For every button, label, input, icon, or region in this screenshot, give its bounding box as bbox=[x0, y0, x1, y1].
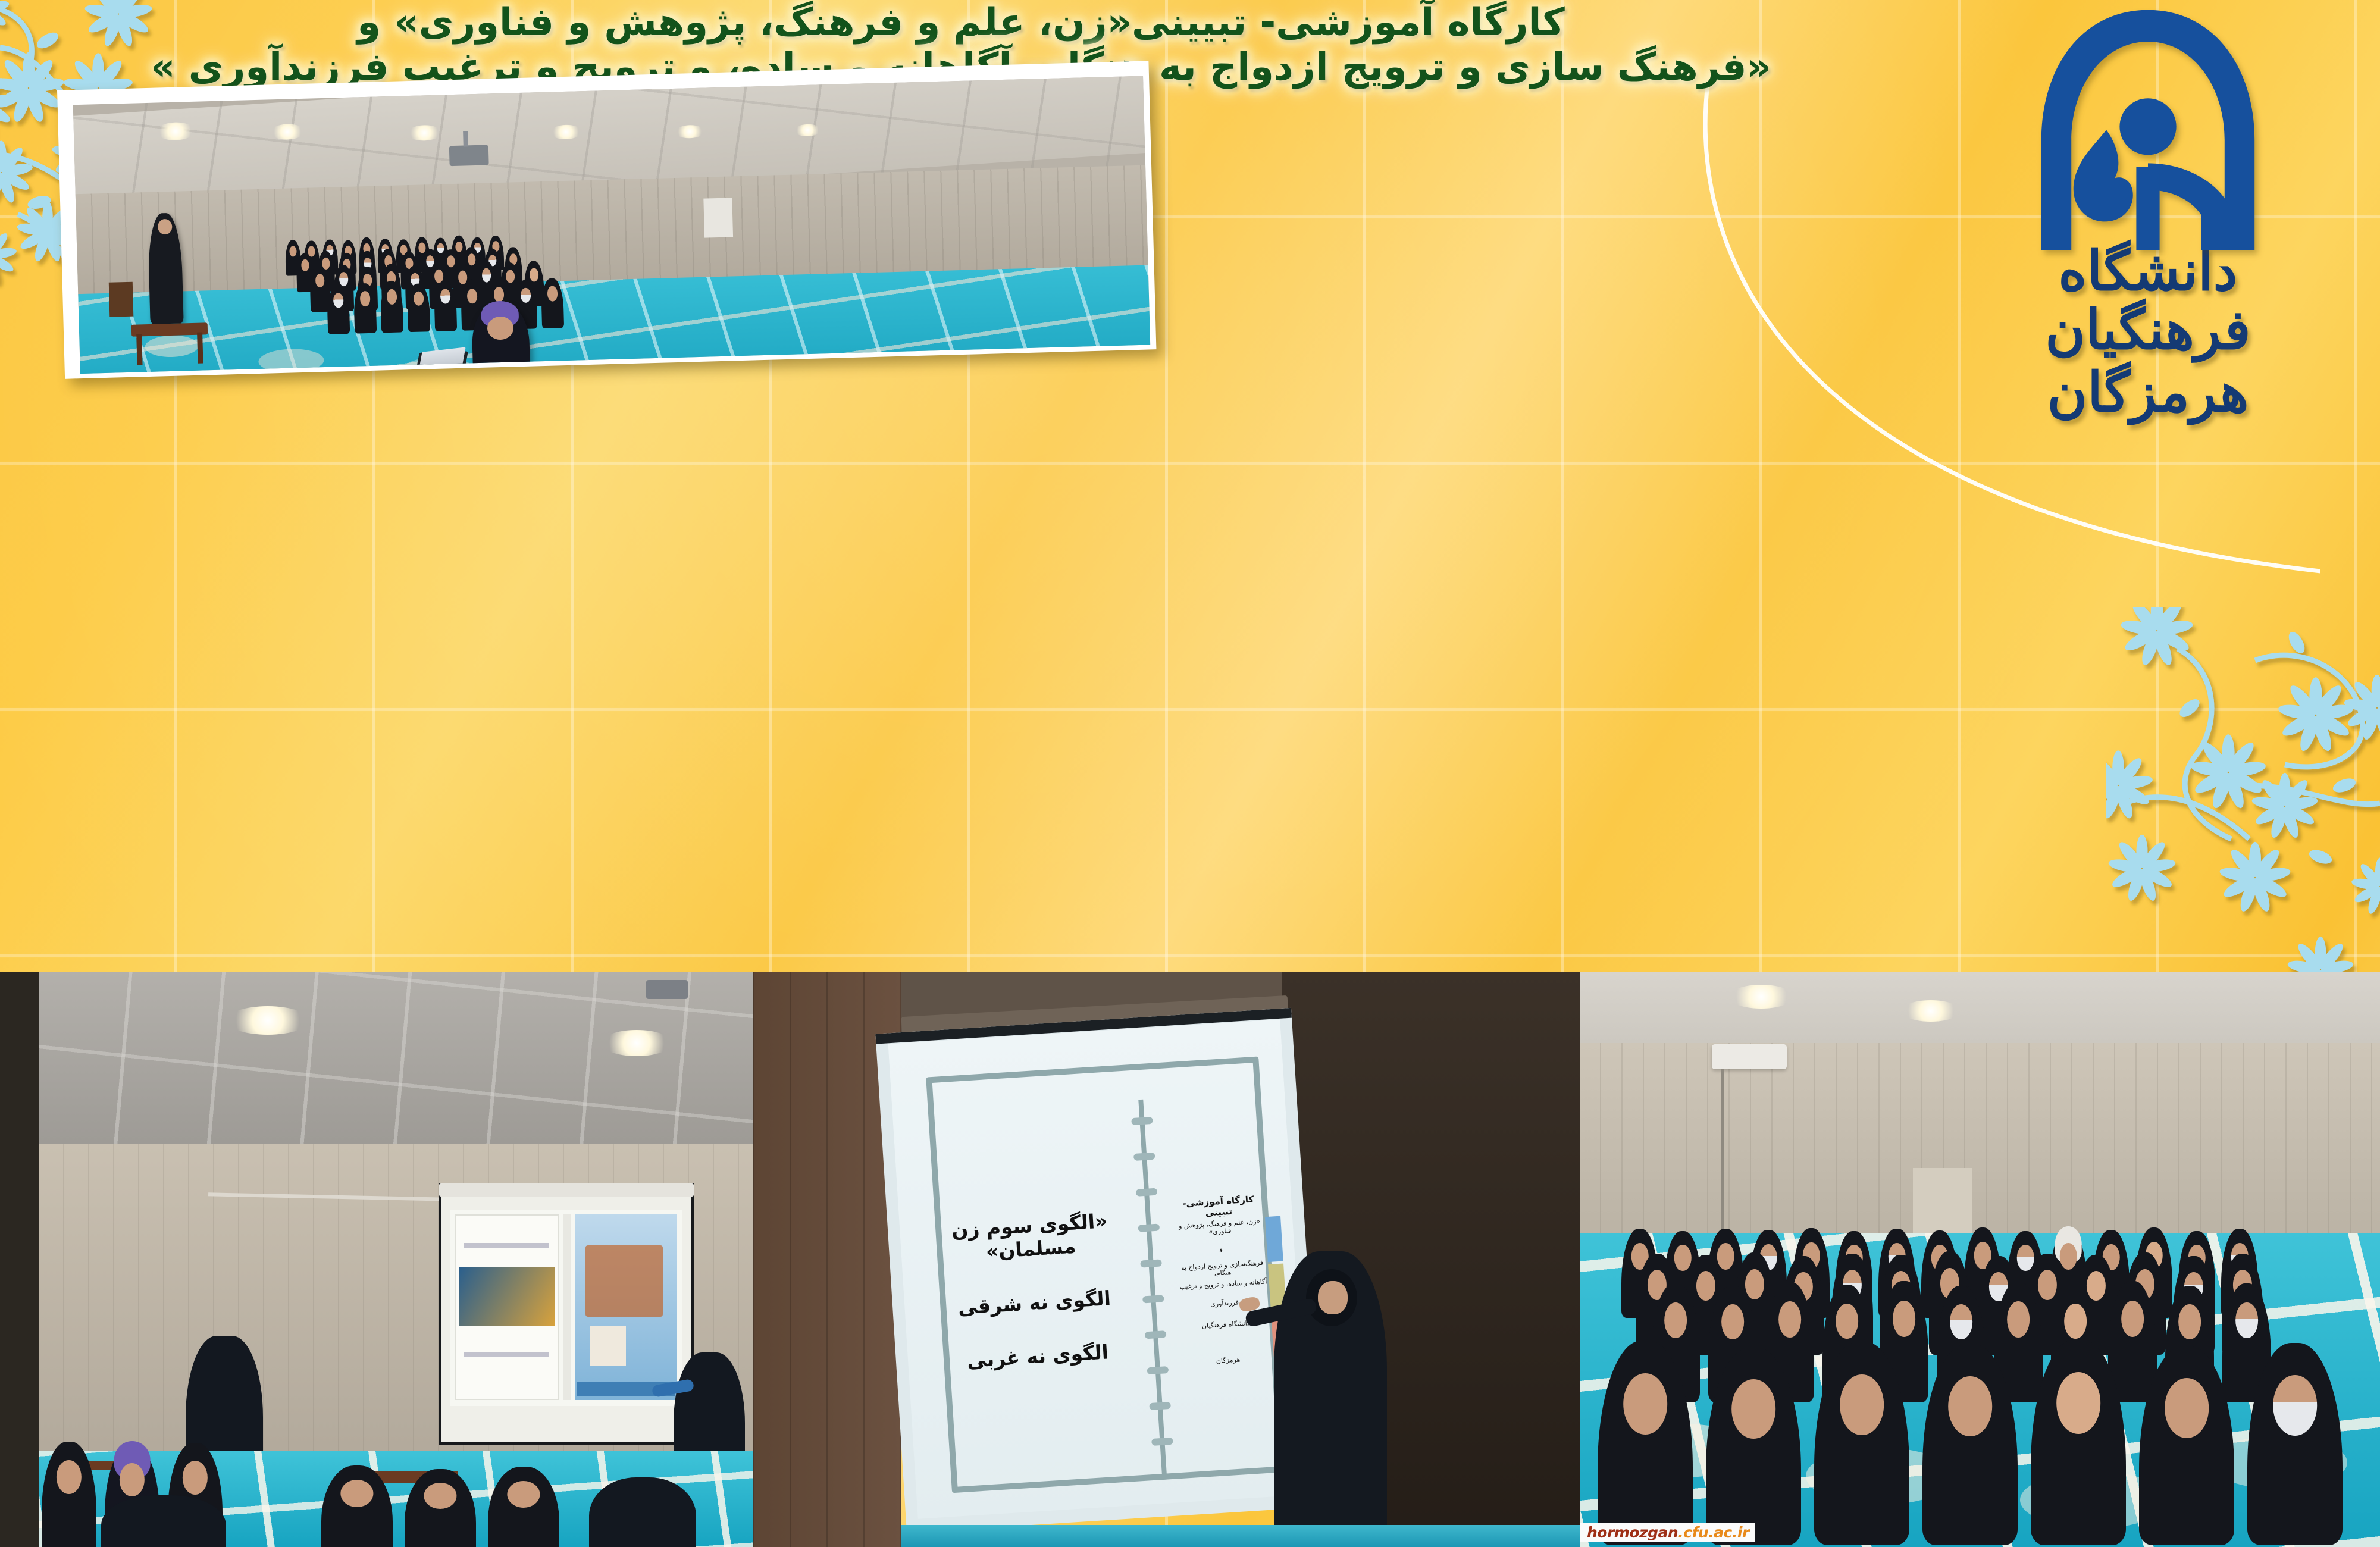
title-line-1: کارگاه آموزشی- تبیینی«زن، علم و فرهنگ، پ… bbox=[71, 4, 1850, 42]
photo-students-group: hormozgan.cfu.ac.ir bbox=[1580, 972, 2380, 1547]
photo-projector-slide: «الگوی سوم زن مسلمان» الگوی نه شرقی الگو… bbox=[753, 972, 1580, 1547]
farhangian-university-emblem-icon bbox=[2017, 0, 2279, 250]
main-workshop-photo bbox=[57, 61, 1156, 378]
watermark-site-name: hormozgan bbox=[1587, 1524, 1678, 1541]
photo-strip: hormozgan.cfu.ac.ir bbox=[0, 972, 2380, 1547]
main-photo-image bbox=[73, 76, 1151, 374]
watermark-site-domain: .cfu.ac.ir bbox=[1678, 1524, 1749, 1541]
photo-hall-wide bbox=[0, 972, 753, 1547]
university-name-line-1: دانشگاه فرهنگیان bbox=[1963, 242, 2332, 360]
university-name: دانشگاه فرهنگیان هرمزگان bbox=[1963, 242, 2332, 422]
site-watermark: hormozgan.cfu.ac.ir bbox=[1580, 1523, 1755, 1542]
poster-canvas: کارگاه آموزشی- تبیینی«زن، علم و فرهنگ، پ… bbox=[0, 0, 2380, 1547]
university-name-line-2: هرمزگان bbox=[1963, 362, 2332, 422]
branding-block: دانشگاه فرهنگیان هرمزگان bbox=[1963, 0, 2332, 422]
